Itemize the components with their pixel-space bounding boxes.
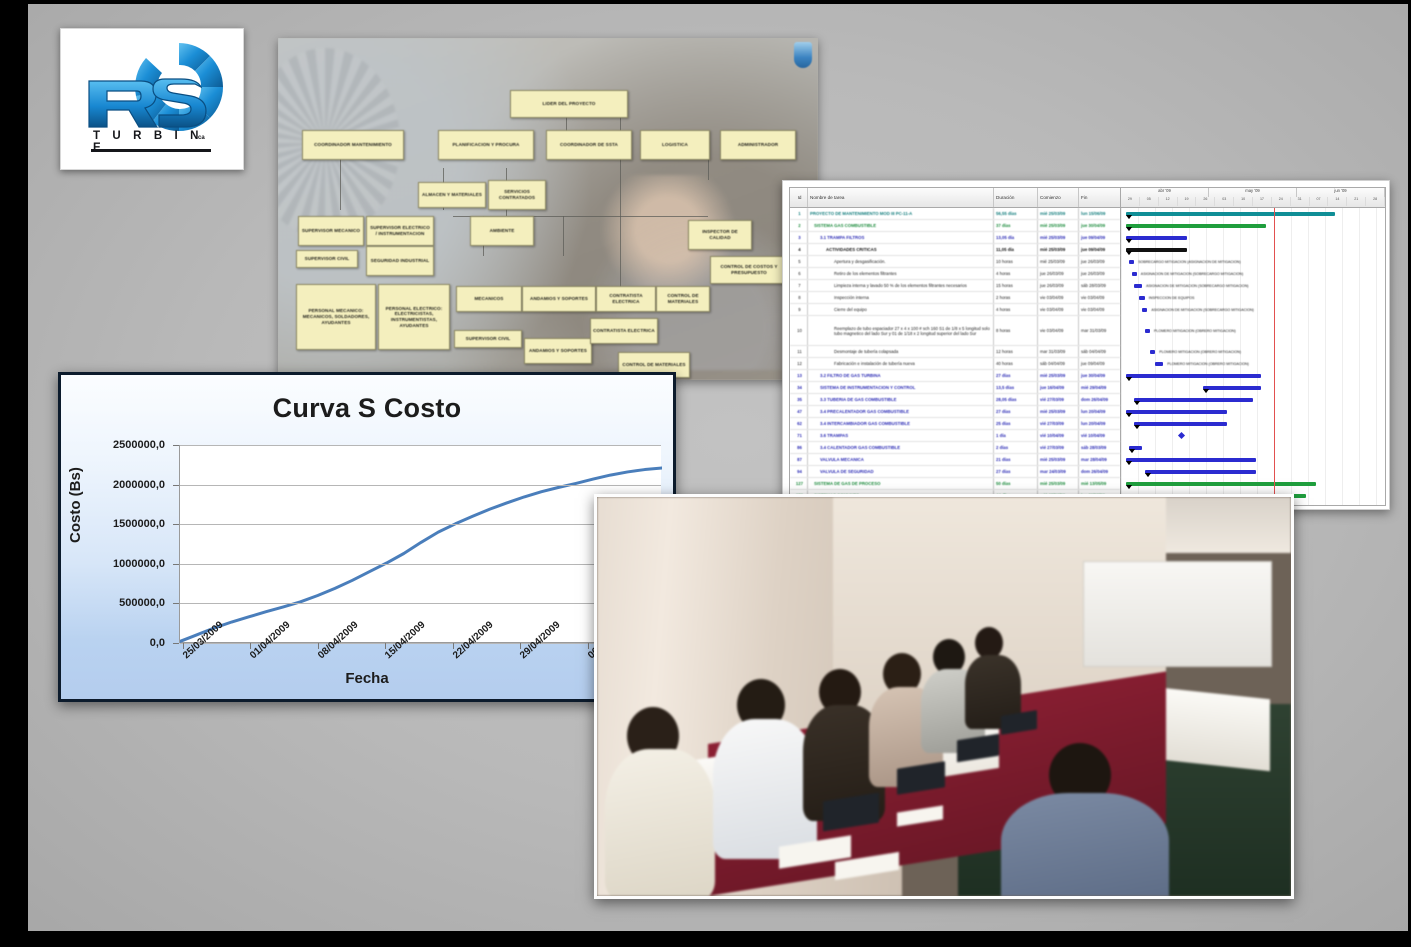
- row-finish: vié 10/04/09: [1079, 430, 1120, 441]
- row-start: mié 25/03/09: [1038, 256, 1079, 267]
- gantt-row[interactable]: 10Reemplazo de tubo espaciador 27 x 4 x …: [790, 316, 1120, 346]
- timeline-month: may '09: [1209, 188, 1297, 197]
- gantt-bar-label: SOBRECARGO MITIGACION (ASIGNACION DE MIT…: [1138, 260, 1240, 264]
- logo-suffix: ca: [198, 135, 205, 141]
- org-node-label: ANDAMIOS Y SOPORTES: [530, 296, 588, 302]
- org-node: ANDAMIOS Y SOPORTES: [522, 286, 596, 312]
- gantt-bar: [1126, 410, 1226, 414]
- row-start: mié 25/03/09: [1038, 220, 1079, 231]
- row-duration: 12 horas: [994, 346, 1038, 357]
- row-task-name: SISTEMA DE GAS DE PROCESO: [808, 478, 994, 489]
- gantt-row[interactable]: 11Desmontaje de tubería colapsada12 hora…: [790, 346, 1120, 358]
- row-task-name: VALVULA MECANICA: [808, 454, 994, 465]
- chart-y-tick: [173, 643, 179, 644]
- chart-x-tick: [453, 643, 454, 649]
- row-id: 12: [790, 358, 808, 369]
- row-finish: mié 29/04/09: [1079, 382, 1120, 393]
- row-finish: jue 09/04/09: [1079, 232, 1120, 243]
- timeline-week: 07: [1310, 197, 1329, 206]
- row-finish: mar 31/03/09: [1079, 316, 1120, 345]
- row-start: vié 27/03/09: [1038, 442, 1079, 453]
- meeting-photo: [597, 497, 1291, 896]
- chart-y-axis-title: Costo (Bs): [67, 467, 84, 543]
- timeline-week: 12: [1159, 197, 1178, 206]
- row-task-name: Fabricación e instalación de tubería nue…: [808, 358, 994, 369]
- timeline-week: 14: [1328, 197, 1347, 206]
- org-node-label: SUPERVISOR MECANICO: [302, 228, 360, 234]
- row-finish: mié 13/05/09: [1079, 478, 1120, 489]
- curva-s-chart-card: Curva S Costo Costo (Bs) Fecha 0,0500000…: [58, 372, 676, 702]
- gantt-bar-label: ASIGNACION DE MITIGACION (SOBRECARGO MIT…: [1151, 308, 1253, 312]
- row-id: 6: [790, 268, 808, 279]
- photo-person-body: [713, 719, 817, 859]
- gantt-milestone: [1178, 432, 1185, 439]
- gantt-row[interactable]: 713.6 TRAMPAS1 díavié 10/04/09vié 10/04/…: [790, 430, 1120, 442]
- row-finish: vie 03/04/09: [1079, 292, 1120, 303]
- org-node: CONTROL DE MATERIALES: [656, 286, 710, 312]
- row-id: 1: [790, 208, 808, 219]
- row-id: 86: [790, 442, 808, 453]
- row-task-name: 3.6 TRAMPAS: [808, 430, 994, 441]
- row-id: 2: [790, 220, 808, 231]
- meeting-photo-card: [594, 494, 1294, 899]
- org-node-label: ANDAMIOS Y SOPORTES: [529, 348, 587, 354]
- row-id: 127: [790, 478, 808, 489]
- gantt-row[interactable]: 863.4 CALENTADOR GAS COMBUSTIBLE2 díasvi…: [790, 442, 1120, 454]
- org-node-label: SEGURIDAD INDUSTRIAL: [371, 258, 430, 264]
- row-id: 13: [790, 370, 808, 381]
- gantt-bar: [1142, 308, 1147, 312]
- row-duration: 27 días: [994, 370, 1038, 381]
- row-id: 94: [790, 466, 808, 477]
- row-duration: 50 días: [994, 478, 1038, 489]
- gantt-bar: [1134, 422, 1226, 426]
- row-task-name: 3.4 CALENTADOR GAS COMBUSTIBLE: [808, 442, 994, 453]
- org-node-label: COORDINADOR MANTENIMIENTO: [314, 142, 392, 148]
- row-start: mar 24/03/09: [1038, 466, 1079, 477]
- org-node-label: PLANIFICACION Y PROCURA: [453, 142, 520, 148]
- col-header-duration: Duración: [994, 188, 1038, 207]
- row-task-name: 3.1 TRAMPA FILTROS: [808, 232, 994, 243]
- org-node-label: MECANICOS: [475, 296, 504, 302]
- row-duration: 13,05 día: [994, 232, 1038, 243]
- timeline-week: 28: [1366, 197, 1385, 206]
- gantt-bar-area: SOBRECARGO MITIGACION (ASIGNACION DE MIT…: [1121, 208, 1385, 505]
- gantt-bar: [1139, 296, 1144, 300]
- org-node-label: ALMACEN Y MATERIALES: [422, 192, 482, 198]
- row-start: mié 25/03/09: [1038, 478, 1079, 489]
- row-start: vie 03/04/09: [1038, 304, 1079, 315]
- gantt-bar-label: ASIGNACION DE MITIGACION (SOBRECARGO MIT…: [1146, 284, 1248, 288]
- org-node: MECANICOS: [456, 286, 522, 312]
- org-node-label: CONTROL DE MATERIALES: [659, 293, 707, 304]
- timeline-week: 26: [1196, 197, 1215, 206]
- row-finish: dom 26/04/09: [1079, 466, 1120, 477]
- gantt-bar: [1126, 458, 1255, 462]
- org-node: PLANIFICACION Y PROCURA: [438, 130, 534, 160]
- slide-canvas: T U R B I N E ca LIDER DEL PROYECTO COOR…: [0, 0, 1411, 947]
- org-node: COORDINADOR DE SSTA: [546, 130, 632, 160]
- org-node: ADMINISTRADOR: [720, 130, 796, 160]
- row-task-name: 3.4 INTERCAMBIADOR GAS COMBUSTIBLE: [808, 418, 994, 429]
- row-finish: jue 26/03/09: [1079, 256, 1120, 267]
- timeline-week: 21: [1347, 197, 1366, 206]
- row-duration: 40 horas: [994, 358, 1038, 369]
- col-header-name: Nombre de tarea: [808, 188, 994, 207]
- logo-wordmark: T U R B I N E: [93, 130, 213, 154]
- row-task-name: PROYECTO DE MANTENIMIENTO MOD III PC-11-…: [808, 208, 994, 219]
- org-node: PERSONAL ELECTRICO: ELECTRICISTAS, INSTR…: [378, 284, 450, 350]
- org-node-label: SUPERVISOR CIVIL: [305, 256, 350, 262]
- org-node-label: COORDINADOR DE SSTA: [560, 142, 618, 148]
- row-start: jue 16/04/09: [1038, 382, 1079, 393]
- row-start: mié 25/03/09: [1038, 370, 1079, 381]
- row-id: 3: [790, 232, 808, 243]
- chart-gridline: [180, 603, 661, 604]
- gantt-bar: [1134, 284, 1142, 288]
- chart-gridline: [180, 485, 661, 486]
- row-duration: 4 horas: [994, 268, 1038, 279]
- row-duration: 21 días: [994, 454, 1038, 465]
- row-task-name: 3.3 TUBERIA DE GAS COMBUSTIBLE: [808, 394, 994, 405]
- row-start: mié 25/03/09: [1038, 208, 1079, 219]
- row-id: 62: [790, 418, 808, 429]
- row-id: 34: [790, 382, 808, 393]
- row-duration: 1 día: [994, 430, 1038, 441]
- row-id: 4: [790, 244, 808, 255]
- row-start: mié 25/03/09: [1038, 244, 1079, 255]
- row-id: 9: [790, 304, 808, 315]
- chart-title: Curva S Costo: [61, 393, 673, 424]
- gantt-row[interactable]: 12Fabricación e instalación de tubería n…: [790, 358, 1120, 370]
- slide-frame-bottom: [0, 931, 1411, 947]
- org-node: CONTROL DE COSTOS Y PRESUPUESTO: [710, 256, 788, 284]
- gantt-row[interactable]: 133.2 FILTRO DE GAS TURBINA27 díasmié 25…: [790, 370, 1120, 382]
- row-duration: 25 días: [994, 418, 1038, 429]
- org-node-label: PERSONAL ELECTRICO: ELECTRICISTAS, INSTR…: [381, 306, 447, 329]
- gantt-bar: [1126, 224, 1266, 228]
- gantt-bar: [1134, 398, 1253, 402]
- org-node-label: CONTRATISTA ELECTRICA: [599, 293, 653, 304]
- org-node-label: LIDER DEL PROYECTO: [543, 101, 596, 107]
- gantt-bar: [1155, 362, 1163, 366]
- timeline-months: abr '09may '09jun '09: [1121, 188, 1385, 197]
- gantt-row[interactable]: 623.4 INTERCAMBIADOR GAS COMBUSTIBLE25 d…: [790, 418, 1120, 430]
- chart-gridline: [180, 445, 661, 446]
- org-node-label: PERSONAL MECANICO: MECANICOS, SOLDADORES…: [299, 308, 373, 325]
- org-node: SERVICIOS CONTRATADOS: [488, 180, 546, 210]
- org-node: SEGURIDAD INDUSTRIAL: [366, 246, 434, 276]
- org-node: AMBIENTE: [470, 216, 534, 246]
- org-node: CONTRATISTA ELECTRICA: [590, 318, 658, 344]
- row-start: vié 10/04/09: [1038, 430, 1079, 441]
- row-start: vié 27/03/09: [1038, 394, 1079, 405]
- gantt-row[interactable]: 94VALVULA DE SEGURIDAD27 díasmar 24/03/0…: [790, 466, 1120, 478]
- row-task-name: Desmontaje de tubería colapsada: [808, 346, 994, 357]
- rs-turbine-logo-card: T U R B I N E ca: [60, 28, 244, 170]
- chart-y-tick-label: 0,0: [150, 637, 165, 649]
- row-finish: mar 28/04/09: [1079, 454, 1120, 465]
- gantt-timeline-header: abr '09may '09jun '09 290512192603101724…: [1121, 188, 1385, 208]
- gantt-bar-label: PLOMERO MITIGACION (OBRERO MITIGACION): [1167, 362, 1249, 366]
- row-start: vié 27/03/09: [1038, 418, 1079, 429]
- gantt-row[interactable]: 127SISTEMA DE GAS DE PROCESO50 díasmié 2…: [790, 478, 1120, 490]
- timeline-week: 24: [1272, 197, 1291, 206]
- row-id: 8: [790, 292, 808, 303]
- slide-frame-top: [0, 0, 1411, 4]
- chart-y-tick-label: 1000000,0: [113, 558, 165, 570]
- row-finish: jue 09/04/09: [1079, 244, 1120, 255]
- org-node-label: LOGISTICA: [662, 142, 688, 148]
- photo-projection-screen: [1083, 561, 1272, 667]
- org-node: PERSONAL MECANICO: MECANICOS, SOLDADORES…: [296, 284, 376, 350]
- chart-x-tick: [318, 643, 319, 649]
- row-finish: lun 20/04/09: [1079, 418, 1120, 429]
- row-start: mié 25/03/09: [1038, 406, 1079, 417]
- org-node: LOGISTICA: [640, 130, 710, 160]
- slide-frame-left: [0, 0, 28, 947]
- chart-gridline: [180, 564, 661, 565]
- row-id: 47: [790, 406, 808, 417]
- row-finish: jue 30/04/09: [1079, 370, 1120, 381]
- row-task-name: Retiro de los elementos filtrantes: [808, 268, 994, 279]
- org-node: SUPERVISOR MECANICO: [298, 216, 364, 246]
- chart-x-tick: [520, 643, 521, 649]
- row-finish: jue 30/04/09: [1079, 220, 1120, 231]
- gantt-bar: [1129, 446, 1142, 450]
- row-id: 87: [790, 454, 808, 465]
- org-node: ANDAMIOS Y SOPORTES: [524, 338, 592, 364]
- gantt-row[interactable]: 87VALVULA MECANICA21 díasmié 25/03/09mar…: [790, 454, 1120, 466]
- chart-x-tick: [385, 643, 386, 649]
- s-curve-line: [180, 445, 662, 643]
- row-task-name: Inspección interna: [808, 292, 994, 303]
- gantt-row[interactable]: 473.4 PRECALENTADOR GAS COMBUSTIBLE27 dí…: [790, 406, 1120, 418]
- gantt-bar-label: INSPECCION DE EQUIPOS: [1149, 296, 1195, 300]
- chart-x-tick: [183, 643, 184, 649]
- row-finish: jue 09/04/09: [1079, 358, 1120, 369]
- org-node-root: LIDER DEL PROYECTO: [510, 90, 628, 118]
- row-duration: 8 horas: [994, 316, 1038, 345]
- row-task-name: 3.4 PRECALENTADOR GAS COMBUSTIBLE: [808, 406, 994, 417]
- chart-x-tick: [588, 643, 589, 649]
- timeline-week: 17: [1253, 197, 1272, 206]
- row-finish: sáb 04/04/09: [1079, 346, 1120, 357]
- col-header-start: Comienzo: [1038, 188, 1079, 207]
- row-finish: sáb 28/03/09: [1079, 280, 1120, 291]
- gantt-bar: [1126, 482, 1316, 486]
- gantt-bar-label: ASIGNACION DE MITIGACION (SOBRECARGO MIT…: [1141, 272, 1243, 276]
- chart-y-tick-label: 500000,0: [119, 597, 165, 609]
- col-header-finish: Fin: [1079, 188, 1120, 207]
- gantt-row[interactable]: 2SISTEMA GAS COMBUSTIBLE37 díasmié 25/03…: [790, 220, 1120, 232]
- row-start: mié 25/03/09: [1038, 454, 1079, 465]
- gantt-wrapper: Id Nombre de tarea Duración Comienzo Fin…: [789, 187, 1386, 506]
- org-node-label: CONTROL DE MATERIALES: [622, 362, 685, 368]
- gantt-table-header: Id Nombre de tarea Duración Comienzo Fin: [790, 188, 1120, 208]
- timeline-month: jun '09: [1297, 188, 1385, 197]
- gantt-row[interactable]: 8Inspección interna2 horasvie 03/04/09vi…: [790, 292, 1120, 304]
- timeline-week: 03: [1215, 197, 1234, 206]
- gantt-row[interactable]: 9Cierre del equipo4 horasvie 03/04/09vie…: [790, 304, 1120, 316]
- gantt-bar-label: PLOMERO MITIGACION (OBRERO MITIGACION): [1154, 329, 1236, 333]
- row-start: mié 25/03/09: [1038, 232, 1079, 243]
- gantt-bar: [1126, 236, 1187, 240]
- org-node-label: SUPERVISOR ELECTRICO / INSTRUMENTACION: [369, 225, 431, 236]
- gantt-bar-label: PLOMERO MITIGACION (OBRERO MITIGACION): [1159, 350, 1241, 354]
- row-id: 7: [790, 280, 808, 291]
- col-header-id: Id: [790, 188, 808, 207]
- row-duration: 27 días: [994, 466, 1038, 477]
- gantt-row[interactable]: 33.1 TRAMPA FILTROS13,05 díamié 25/03/09…: [790, 232, 1120, 244]
- row-duration: 13,5 días: [994, 382, 1038, 393]
- gantt-row[interactable]: 7Limpieza interna y lavado 50 % de los e…: [790, 280, 1120, 292]
- timeline-week: 31: [1291, 197, 1310, 206]
- row-task-name: Reemplazo de tubo espaciador 27 x 4 x 10…: [808, 316, 994, 345]
- gantt-row[interactable]: 34SISTEMA DE INSTRUMENTACION Y CONTROL13…: [790, 382, 1120, 394]
- timeline-month: abr '09: [1121, 188, 1209, 197]
- row-start: jue 26/03/09: [1038, 280, 1079, 291]
- row-duration: 15 horas: [994, 280, 1038, 291]
- gantt-bar: [1145, 329, 1150, 333]
- gantt-row[interactable]: 5Apertura y desgasificación.10 horasmié …: [790, 256, 1120, 268]
- logo-inner: T U R B I N E ca: [61, 29, 243, 169]
- gantt-row[interactable]: 6Retiro de los elementos filtrantes4 hor…: [790, 268, 1120, 280]
- row-duration: 2 días: [994, 442, 1038, 453]
- row-finish: sáb 28/03/09: [1079, 442, 1120, 453]
- row-start: jue 26/03/09: [1038, 268, 1079, 279]
- row-id: 10: [790, 316, 808, 345]
- row-task-name: Cierre del equipo: [808, 304, 994, 315]
- chart-gridline: [180, 524, 661, 525]
- org-node: SUPERVISOR ELECTRICO / INSTRUMENTACION: [366, 216, 434, 246]
- org-node: ALMACEN Y MATERIALES: [418, 182, 486, 208]
- gantt-row-list: 1PROYECTO DE MANTENIMIENTO MOD III PC-11…: [790, 208, 1120, 506]
- gantt-timeline: abr '09may '09jun '09 290512192603101724…: [1121, 188, 1385, 505]
- gantt-bar: [1126, 212, 1335, 216]
- row-start: sáb 04/04/09: [1038, 358, 1079, 369]
- org-chart-badge-icon: [794, 42, 812, 68]
- chart-y-tick-label: 2000000,0: [113, 479, 165, 491]
- timeline-week: 10: [1234, 197, 1253, 206]
- chart-gridline: [180, 643, 661, 644]
- org-node: CONTRATISTA ELECTRICA: [596, 286, 656, 312]
- today-marker-line: [1274, 208, 1275, 505]
- gantt-bar: [1129, 260, 1134, 264]
- row-start: vie 03/04/09: [1038, 292, 1079, 303]
- row-task-name: VALVULA DE SEGURIDAD: [808, 466, 994, 477]
- gantt-bar: [1203, 386, 1261, 390]
- chart-x-tick: [250, 643, 251, 649]
- chart-x-axis-title: Fecha: [61, 670, 673, 687]
- org-chart-card: LIDER DEL PROYECTO COORDINADOR MANTENIMI…: [278, 38, 818, 380]
- row-finish: jue 26/03/09: [1079, 268, 1120, 279]
- row-task-name: SISTEMA GAS COMBUSTIBLE: [808, 220, 994, 231]
- org-node-label: CONTROL DE COSTOS Y PRESUPUESTO: [713, 264, 785, 275]
- timeline-week: 05: [1140, 197, 1159, 206]
- row-id: 35: [790, 394, 808, 405]
- gantt-bar: [1126, 374, 1261, 378]
- row-start: mar 31/03/09: [1038, 346, 1079, 357]
- row-task-name: SISTEMA DE INSTRUMENTACION Y CONTROL: [808, 382, 994, 393]
- row-finish: vie 03/04/09: [1079, 304, 1120, 315]
- timeline-week: 19: [1178, 197, 1197, 206]
- org-node-label: AMBIENTE: [490, 228, 515, 234]
- row-id: 71: [790, 430, 808, 441]
- row-duration: 10 horas: [994, 256, 1038, 267]
- gantt-bar: [1150, 350, 1155, 354]
- row-finish: lun 15/06/09: [1079, 208, 1120, 219]
- row-duration: 56,55 días: [994, 208, 1038, 219]
- gantt-bar: [1126, 248, 1187, 252]
- gantt-row[interactable]: 1PROYECTO DE MANTENIMIENTO MOD III PC-11…: [790, 208, 1120, 220]
- timeline-week: 29: [1121, 197, 1140, 206]
- photo-person-body: [605, 749, 715, 896]
- row-duration: 2 horas: [994, 292, 1038, 303]
- row-task-name: 3.2 FILTRO DE GAS TURBINA: [808, 370, 994, 381]
- org-node-label: INSPECTOR DE CALIDAD: [691, 229, 749, 240]
- chart-plot-area: [179, 445, 661, 643]
- org-node: INSPECTOR DE CALIDAD: [688, 220, 752, 250]
- row-duration: 37 días: [994, 220, 1038, 231]
- gantt-bar: [1132, 272, 1137, 276]
- timeline-weeks: 2905121926031017243107142128: [1121, 197, 1385, 206]
- gantt-bar: [1145, 470, 1256, 474]
- photo-side-table: [1152, 686, 1270, 770]
- org-node-label: SERVICIOS CONTRATADOS: [491, 189, 543, 200]
- org-node-label: ADMINISTRADOR: [738, 142, 778, 148]
- row-task-name: ACTIVIDADES CRITICAS: [808, 244, 994, 255]
- row-start: vie 03/04/09: [1038, 316, 1079, 345]
- org-connector: [563, 216, 564, 256]
- row-duration: 4 horas: [994, 304, 1038, 315]
- org-node: COORDINADOR MANTENIMIENTO: [302, 130, 404, 160]
- row-duration: 11,05 día: [994, 244, 1038, 255]
- chart-y-tick-label: 2500000,0: [113, 439, 165, 451]
- row-task-name: Limpieza interna y lavado 50 % de los el…: [808, 280, 994, 291]
- gantt-chart-card: Id Nombre de tarea Duración Comienzo Fin…: [782, 180, 1390, 510]
- gantt-row[interactable]: 353.3 TUBERIA DE GAS COMBUSTIBLE28,05 dí…: [790, 394, 1120, 406]
- row-duration: 27 días: [994, 406, 1038, 417]
- gantt-table: Id Nombre de tarea Duración Comienzo Fin…: [790, 188, 1121, 505]
- row-duration: 28,05 días: [994, 394, 1038, 405]
- row-task-name: Apertura y desgasificación.: [808, 256, 994, 267]
- row-id: 5: [790, 256, 808, 267]
- org-node-label: SUPERVISOR CIVIL: [466, 336, 511, 342]
- row-finish: dom 26/04/09: [1079, 394, 1120, 405]
- row-finish: lun 20/04/09: [1079, 406, 1120, 417]
- org-node: SUPERVISOR CIVIL: [296, 250, 358, 268]
- gantt-row[interactable]: 4ACTIVIDADES CRITICAS11,05 díamié 25/03/…: [790, 244, 1120, 256]
- org-node: SUPERVISOR CIVIL: [454, 330, 522, 348]
- photo-person-body: [1001, 793, 1169, 896]
- org-node-label: CONTRATISTA ELECTRICA: [593, 328, 655, 334]
- chart-y-tick-label: 1500000,0: [113, 518, 165, 530]
- row-id: 11: [790, 346, 808, 357]
